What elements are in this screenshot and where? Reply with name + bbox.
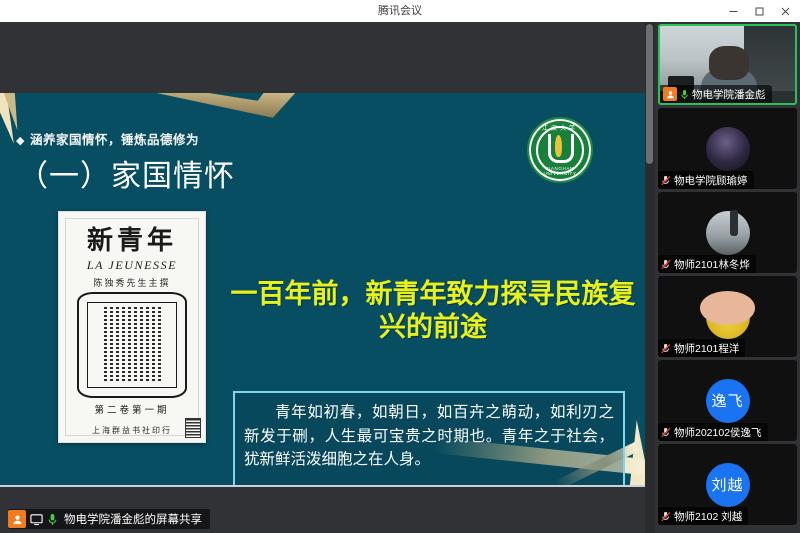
participant-footer: 物师2101林冬烨 xyxy=(658,255,756,273)
participant-tile[interactable]: 逸飞 物师202102侯逸飞 xyxy=(658,360,797,441)
magazine-stamp-icon xyxy=(185,418,201,438)
microphone-muted-icon xyxy=(661,259,671,270)
avatar: 逸飞 xyxy=(706,379,750,423)
participant-name: 物师2101林冬烨 xyxy=(674,257,750,272)
participant-tile[interactable]: 物师2101林冬烨 xyxy=(658,192,797,273)
logo-flame-shape xyxy=(555,135,562,157)
screen-share-label: 物电学院潘金彪的屏幕共享 xyxy=(64,511,202,527)
magazine-issue-text: 第二卷第一期 xyxy=(59,402,205,416)
participant-footer: 物师202102侯逸飞 xyxy=(658,423,768,441)
slide-title: （一）家国情怀 xyxy=(18,151,235,195)
magazine-en-title: LA JEUNESSE xyxy=(59,258,205,273)
screen-share-icon xyxy=(30,513,43,526)
magazine-toc-column xyxy=(104,307,107,383)
microphone-muted-icon xyxy=(661,511,671,522)
minimize-icon[interactable] xyxy=(720,0,746,22)
shared-screen-stage[interactable]: ◆涵养家国情怀，锤炼品德修为 （一）家国情怀 江汉大学 JIANGHAN UNI… xyxy=(0,22,645,533)
avatar xyxy=(706,127,750,171)
magazine-toc-column xyxy=(110,307,113,383)
magazine-subtitle: 陈独秀先生主撰 xyxy=(59,276,205,289)
microphone-icon xyxy=(47,513,58,526)
stage-scrollbar[interactable] xyxy=(645,22,655,533)
participant-strip: 物电学院潘金彪 物电学院顾瑜婷 xyxy=(655,22,800,533)
avatar xyxy=(706,211,750,255)
participant-footer: 物师2101程洋 xyxy=(658,339,745,357)
maximize-icon[interactable] xyxy=(746,0,772,22)
participant-tile[interactable]: 刘越 物师2102 刘越 xyxy=(658,444,797,525)
magazine-ornament-inner xyxy=(87,302,177,388)
magazine-toc-column xyxy=(134,307,137,383)
avatar: 刘越 xyxy=(706,463,750,507)
magazine-toc-columns xyxy=(92,307,172,383)
magazine-toc-column xyxy=(140,307,143,383)
magazine-cn-title: 新青年 xyxy=(59,220,205,257)
participant-name: 物电学院顾瑜婷 xyxy=(674,173,748,188)
magazine-toc-column xyxy=(128,307,131,383)
magazine-toc-column xyxy=(152,307,155,383)
logo-en-text: JIANGHAN UNIVERSITY xyxy=(529,166,591,176)
slide-kicker-text: 涵养家国情怀，锤炼品德修为 xyxy=(30,133,199,147)
magazine-ornament-frame xyxy=(77,292,187,398)
participant-name: 物电学院潘金彪 xyxy=(692,87,766,102)
ribbon-decoration-top xyxy=(126,93,304,118)
host-icon xyxy=(8,510,26,528)
slide-headline: 一百年前，新青年致力探寻民族复兴的前途 xyxy=(228,278,638,344)
jianghan-university-logo-icon: 江汉大学 JIANGHAN UNIVERSITY xyxy=(527,117,593,183)
screen-share-bar: 物电学院潘金彪的屏幕共享 xyxy=(0,505,645,533)
slide-quote-text: 青年如初春，如朝日，如百卉之萌动，如利刃之新发于硎，人生最可宝贵之时期也。青年之… xyxy=(244,401,614,472)
participant-footer: 物电学院顾瑜婷 xyxy=(658,171,754,189)
magazine-toc-column xyxy=(116,307,119,383)
microphone-icon xyxy=(680,89,689,100)
screen-share-pill: 物电学院潘金彪的屏幕共享 xyxy=(8,509,210,529)
diamond-bullet-icon: ◆ xyxy=(16,135,25,147)
titlebar: 腾讯会议 xyxy=(0,0,800,23)
magazine-toc-column xyxy=(146,307,149,383)
logo-cn-text: 江汉大学 xyxy=(529,123,591,132)
participant-tile[interactable]: 物电学院潘金彪 xyxy=(658,24,797,105)
magazine-toc-column xyxy=(158,307,161,383)
close-icon[interactable] xyxy=(772,0,798,22)
host-icon xyxy=(663,87,677,101)
participant-footer: 物师2102 刘越 xyxy=(658,507,748,525)
stage-scrollbar-thumb[interactable] xyxy=(646,24,653,164)
window-title: 腾讯会议 xyxy=(0,0,800,22)
participant-name: 物师2101程洋 xyxy=(674,341,739,356)
magazine-cover-image: 新青年 LA JEUNESSE 陈独秀先生主撰 xyxy=(58,211,206,443)
participant-name: 物师2102 刘越 xyxy=(674,509,742,524)
avatar xyxy=(706,295,750,339)
slide-quote-box: 青年如初春，如朝日，如百卉之萌动，如利刃之新发于硎，人生最可宝贵之时期也。青年之… xyxy=(233,391,625,487)
window-controls xyxy=(720,0,798,22)
magazine-toc-column xyxy=(122,307,125,383)
participant-footer: 物电学院潘金彪 xyxy=(660,85,772,103)
tencent-meeting-window: 腾讯会议 ◆涵养家国情怀，锤炼品德修为 （一）家国 xyxy=(0,0,800,533)
microphone-muted-icon xyxy=(661,343,671,354)
slide-kicker: ◆涵养家国情怀，锤炼品德修为 xyxy=(16,129,199,148)
microphone-muted-icon xyxy=(661,175,671,186)
magazine-publisher-text: 上海群益书社印行 xyxy=(59,425,205,436)
participant-tile[interactable]: 物电学院顾瑜婷 xyxy=(658,108,797,189)
participant-name: 物师202102侯逸飞 xyxy=(674,425,762,440)
microphone-muted-icon xyxy=(661,427,671,438)
participant-tile[interactable]: 物师2101程洋 xyxy=(658,276,797,357)
presentation-slide: ◆涵养家国情怀，锤炼品德修为 （一）家国情怀 江汉大学 JIANGHAN UNI… xyxy=(0,93,645,487)
ribbon-decoration-top-left-2 xyxy=(3,93,18,131)
